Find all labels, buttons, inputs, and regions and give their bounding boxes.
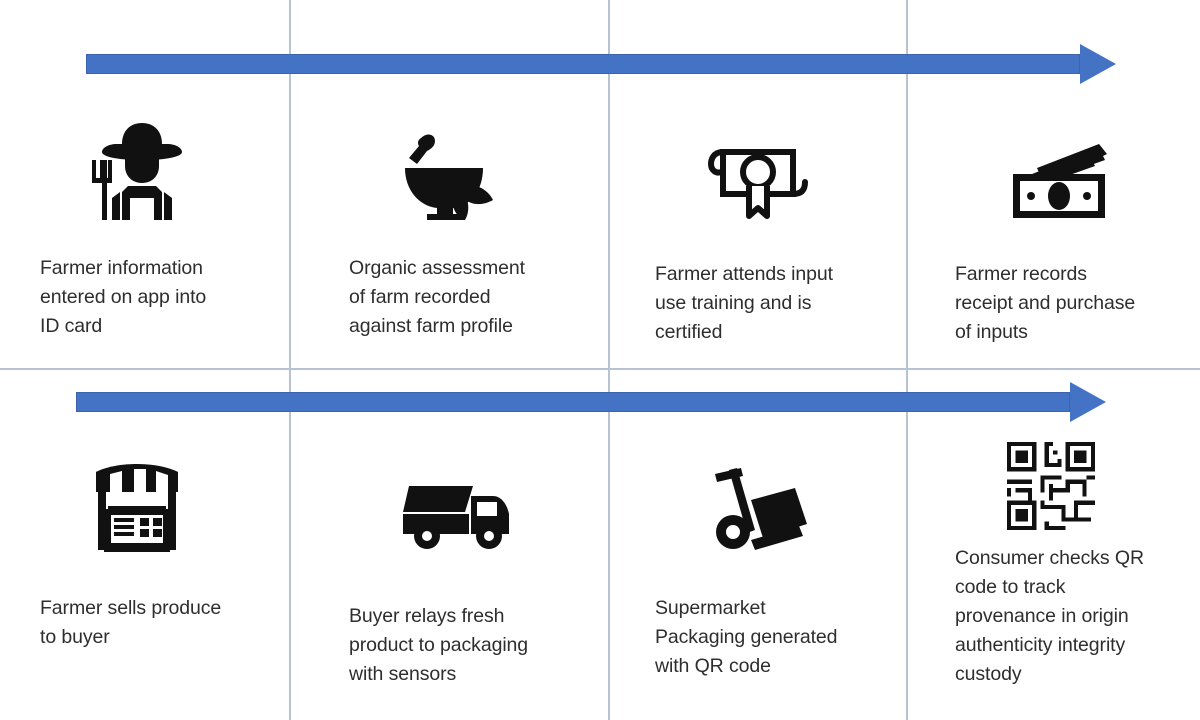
arrow-shaft: [76, 392, 1070, 412]
step-caption: Farmer records receipt and purchase of i…: [955, 260, 1190, 347]
process-flow-arrow-top: [86, 44, 1116, 84]
step-organic-assessment: Organic assessment of farm recorded agai…: [349, 110, 589, 341]
hand-truck-box-icon: [655, 442, 890, 552]
column-divider-1: [289, 0, 291, 720]
step-buyer-relays-product: Buyer relays fresh product to packaging …: [349, 442, 589, 689]
step-farmer-information: Farmer information entered on app into I…: [40, 110, 280, 341]
step-caption: Farmer attends input use training and is…: [655, 260, 890, 347]
row-divider: [0, 368, 1200, 370]
column-divider-3: [906, 0, 908, 720]
process-flow-arrow-bottom: [76, 382, 1106, 422]
step-caption: Supermarket Packaging generated with QR …: [655, 594, 890, 681]
farmer-icon: [40, 110, 280, 220]
step-supermarket-packaging: Supermarket Packaging generated with QR …: [655, 442, 890, 681]
step-caption: Farmer sells produce to buyer: [40, 594, 280, 652]
diagram-canvas: Farmer information entered on app into I…: [0, 0, 1200, 720]
market-stall-icon: [40, 442, 280, 552]
banknotes-icon: [955, 110, 1190, 220]
step-caption: Organic assessment of farm recorded agai…: [349, 254, 589, 341]
step-records-receipt: Farmer records receipt and purchase of i…: [955, 110, 1190, 347]
step-farmer-sells-produce: Farmer sells produce to buyer: [40, 442, 280, 652]
arrow-head: [1070, 382, 1106, 422]
step-caption: Buyer relays fresh product to packaging …: [349, 602, 589, 689]
certificate-scroll-icon: [655, 110, 890, 220]
mortar-pestle-leaf-icon: [349, 110, 589, 220]
step-consumer-checks-qr: Consumer checks QR code to track provena…: [955, 442, 1193, 689]
delivery-truck-icon: [349, 442, 589, 552]
step-caption: Farmer information entered on app into I…: [40, 254, 280, 341]
arrow-head: [1080, 44, 1116, 84]
column-divider-2: [608, 0, 610, 720]
qr-code-icon: [955, 442, 1193, 534]
step-caption: Consumer checks QR code to track provena…: [955, 544, 1193, 689]
step-input-use-training: Farmer attends input use training and is…: [655, 110, 890, 347]
arrow-shaft: [86, 54, 1080, 74]
